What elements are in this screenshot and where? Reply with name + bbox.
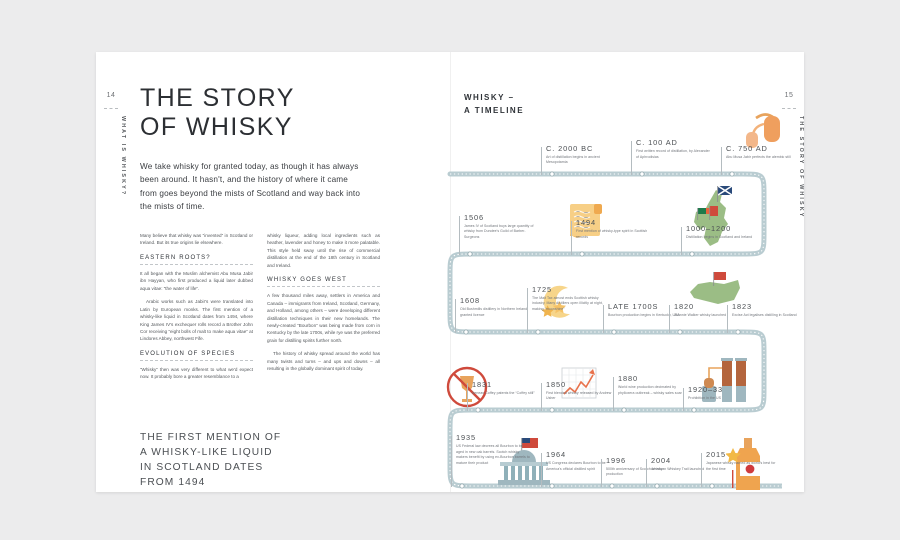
- timeline-event-description: Prohibition in the US: [688, 396, 762, 402]
- timeline-event[interactable]: 1506James IV of Scotland buys large quan…: [464, 214, 538, 248]
- timeline-event-description: Distillation begins in Scotland and Irel…: [686, 235, 760, 241]
- timeline-event-year: 1823: [732, 303, 804, 310]
- timeline-event[interactable]: 1608Old Bushmills distillery in Northern…: [460, 297, 534, 326]
- timeline-event[interactable]: C. 750 ADAbu Musa Jabir perfects the ale…: [726, 145, 800, 168]
- timeline-event[interactable]: 1725The Malt Tax almost ends Scottish wh…: [532, 286, 606, 326]
- pull-quote-line: A WHISKY-LIKE LIQUID: [140, 445, 340, 460]
- section-subhead: EASTERN ROOTS?: [140, 255, 253, 261]
- body-paragraph: Many believe that whisky was “invented” …: [140, 232, 253, 247]
- timeline-event[interactable]: 1920–33Prohibition in the US: [688, 386, 762, 404]
- timeline-event-year: 1608: [460, 297, 534, 304]
- timeline-tick: [467, 383, 468, 411]
- timeline-title-line1: WHISKY –: [464, 92, 524, 105]
- timeline-event-description: Bourbon production begins in Kentucky, U…: [608, 313, 682, 319]
- left-section-label: WHAT IS WHISKY?: [96, 116, 126, 196]
- timeline-tick: [601, 459, 602, 487]
- body-paragraph: It all began with the Muslim alchemist A…: [140, 270, 253, 292]
- timeline-event-description: Aeneas Coffey patents the “Coffey still”: [472, 391, 546, 397]
- timeline-tick: [631, 141, 632, 175]
- page-title-line2: OF WHISKY: [140, 113, 295, 142]
- timeline-event-description: Abu Musa Jabir perfects the alembic stil…: [726, 155, 800, 161]
- timeline-tick: [681, 227, 682, 255]
- timeline-event-year: 1506: [464, 214, 538, 221]
- timeline-event[interactable]: 1880World wine production decimated by p…: [618, 375, 692, 404]
- timeline-event-year: 1725: [532, 286, 606, 293]
- timeline-tick: [541, 383, 542, 411]
- page-title: THE STORY OF WHISKY: [140, 84, 295, 142]
- body-paragraph: Arabic works such as Jabir's were transl…: [140, 298, 253, 343]
- timeline-event[interactable]: 1823Excise Act legalises distilling in S…: [732, 303, 804, 326]
- body-paragraph: whisky liqueur, adding local ingredients…: [267, 232, 380, 269]
- timeline-event[interactable]: C. 2000 BCArt of distillation begins in …: [546, 145, 620, 168]
- timeline-tick: [721, 147, 722, 175]
- left-page: THE STORY OF WHISKY We take whisky for g…: [126, 52, 416, 492]
- timeline-tick: [683, 388, 684, 411]
- timeline-event-description: The Malt Tax almost ends Scottish whisky…: [532, 296, 606, 313]
- timeline-event[interactable]: 1494First mention of whisky-type spirit …: [576, 219, 650, 248]
- pull-quote-line: IN SCOTLAND DATES: [140, 460, 340, 475]
- body-paragraph: The history of whisky spread around the …: [267, 350, 380, 372]
- left-page-number: 14: [96, 92, 126, 99]
- timeline-tick: [541, 147, 542, 175]
- body-paragraph: A few thousand miles away, settlers in A…: [267, 292, 380, 344]
- timeline-event-year: 1000–1200: [686, 225, 760, 232]
- timeline-event[interactable]: 2015Japanese whisky named as world's bes…: [706, 451, 780, 480]
- pull-quote: THE FIRST MENTION OF A WHISKY-LIKE LIQUI…: [140, 430, 340, 490]
- body-column: whisky liqueur, adding local ingredients…: [267, 232, 380, 387]
- timeline-event-year: 1935: [456, 434, 530, 441]
- section-subhead: EVOLUTION OF SPECIES: [140, 351, 253, 357]
- timeline-event-description: First mention of whisky-type spirit in S…: [576, 229, 650, 240]
- timeline-tick: [527, 288, 528, 333]
- left-page-tab: 14 WHAT IS WHISKY?: [96, 52, 126, 492]
- body-columns: Many believe that whisky was “invented” …: [140, 232, 380, 387]
- body-column: Many believe that whisky was “invented” …: [140, 232, 253, 387]
- timeline-event-description: Old Bushmills distillery in Northern Ire…: [460, 307, 534, 318]
- timeline-event-description: First blended whisky released by Andrew …: [546, 391, 620, 402]
- timeline-event[interactable]: C. 100 ADFirst written record of distill…: [636, 139, 710, 168]
- timeline-event-description: US Federal law decrees all Bourbon to be…: [456, 444, 530, 466]
- timeline-tick: [459, 216, 460, 255]
- pull-quote-line: FROM 1494: [140, 475, 340, 490]
- timeline-event-description: World wine production decimated by phyll…: [618, 385, 692, 396]
- standfirst: We take whisky for granted today, as tho…: [140, 160, 364, 213]
- timeline-tick: [646, 459, 647, 487]
- timeline-event-year: C. 2000 BC: [546, 145, 620, 152]
- timeline-tick: [541, 453, 542, 487]
- timeline-title: WHISKY – A TIMELINE: [464, 92, 524, 118]
- timeline-event[interactable]: 1831Aeneas Coffey patents the “Coffey st…: [472, 381, 546, 404]
- timeline-event-description: Excise Act legalises distilling in Scotl…: [732, 313, 804, 319]
- timeline-tick: [603, 305, 604, 333]
- timeline-event-year: 2015: [706, 451, 780, 458]
- body-paragraph: “Whisky” then was very different to what…: [140, 366, 253, 381]
- timeline-event-description: First written record of distillation, by…: [636, 149, 710, 160]
- subhead-rule: [140, 264, 253, 265]
- right-tab-rule: [782, 108, 796, 109]
- page-title-line1: THE STORY: [140, 84, 295, 113]
- pull-quote-line: THE FIRST MENTION OF: [140, 430, 340, 445]
- left-tab-rule: [104, 108, 118, 109]
- timeline-event[interactable]: 1000–1200Distillation begins in Scotland…: [686, 225, 760, 248]
- timeline-event-year: 1880: [618, 375, 692, 382]
- timeline-event-year: LATE 1700S: [608, 303, 682, 310]
- timeline-event[interactable]: LATE 1700SBourbon production begins in K…: [608, 303, 682, 326]
- book-spread: 14 WHAT IS WHISKY? THE STORY OF WHISKY W…: [96, 52, 804, 492]
- subhead-rule: [140, 360, 253, 361]
- timeline-tick: [701, 453, 702, 487]
- timeline-event-year: 1494: [576, 219, 650, 226]
- timeline-event-year: 1831: [472, 381, 546, 388]
- timeline-tick: [455, 299, 456, 333]
- timeline-tick: [451, 436, 452, 487]
- timeline-event[interactable]: 1935US Federal law decrees all Bourbon t…: [456, 434, 530, 480]
- timeline-title-line2: A TIMELINE: [464, 105, 524, 118]
- timeline-tick: [669, 305, 670, 333]
- timeline-event-year: 1920–33: [688, 386, 762, 393]
- timeline-event-year: 1850: [546, 381, 620, 388]
- timeline-event-description: James IV of Scotland buys large quantity…: [464, 224, 538, 241]
- timeline-event-year: C. 750 AD: [726, 145, 800, 152]
- subhead-rule: [267, 286, 380, 287]
- timeline-event-description: Art of distillation begins in ancient Me…: [546, 155, 620, 166]
- timeline-event-description: Japanese whisky named as world's best fo…: [706, 461, 780, 472]
- timeline-tick: [727, 305, 728, 333]
- section-subhead: WHISKY GOES WEST: [267, 277, 380, 283]
- timeline-tick: [571, 221, 572, 255]
- timeline-event-year: C. 100 AD: [636, 139, 710, 146]
- timeline-tick: [613, 377, 614, 411]
- timeline-event[interactable]: 1850First blended whisky released by And…: [546, 381, 620, 404]
- right-page: WHISKY – A TIMELINE: [450, 52, 774, 492]
